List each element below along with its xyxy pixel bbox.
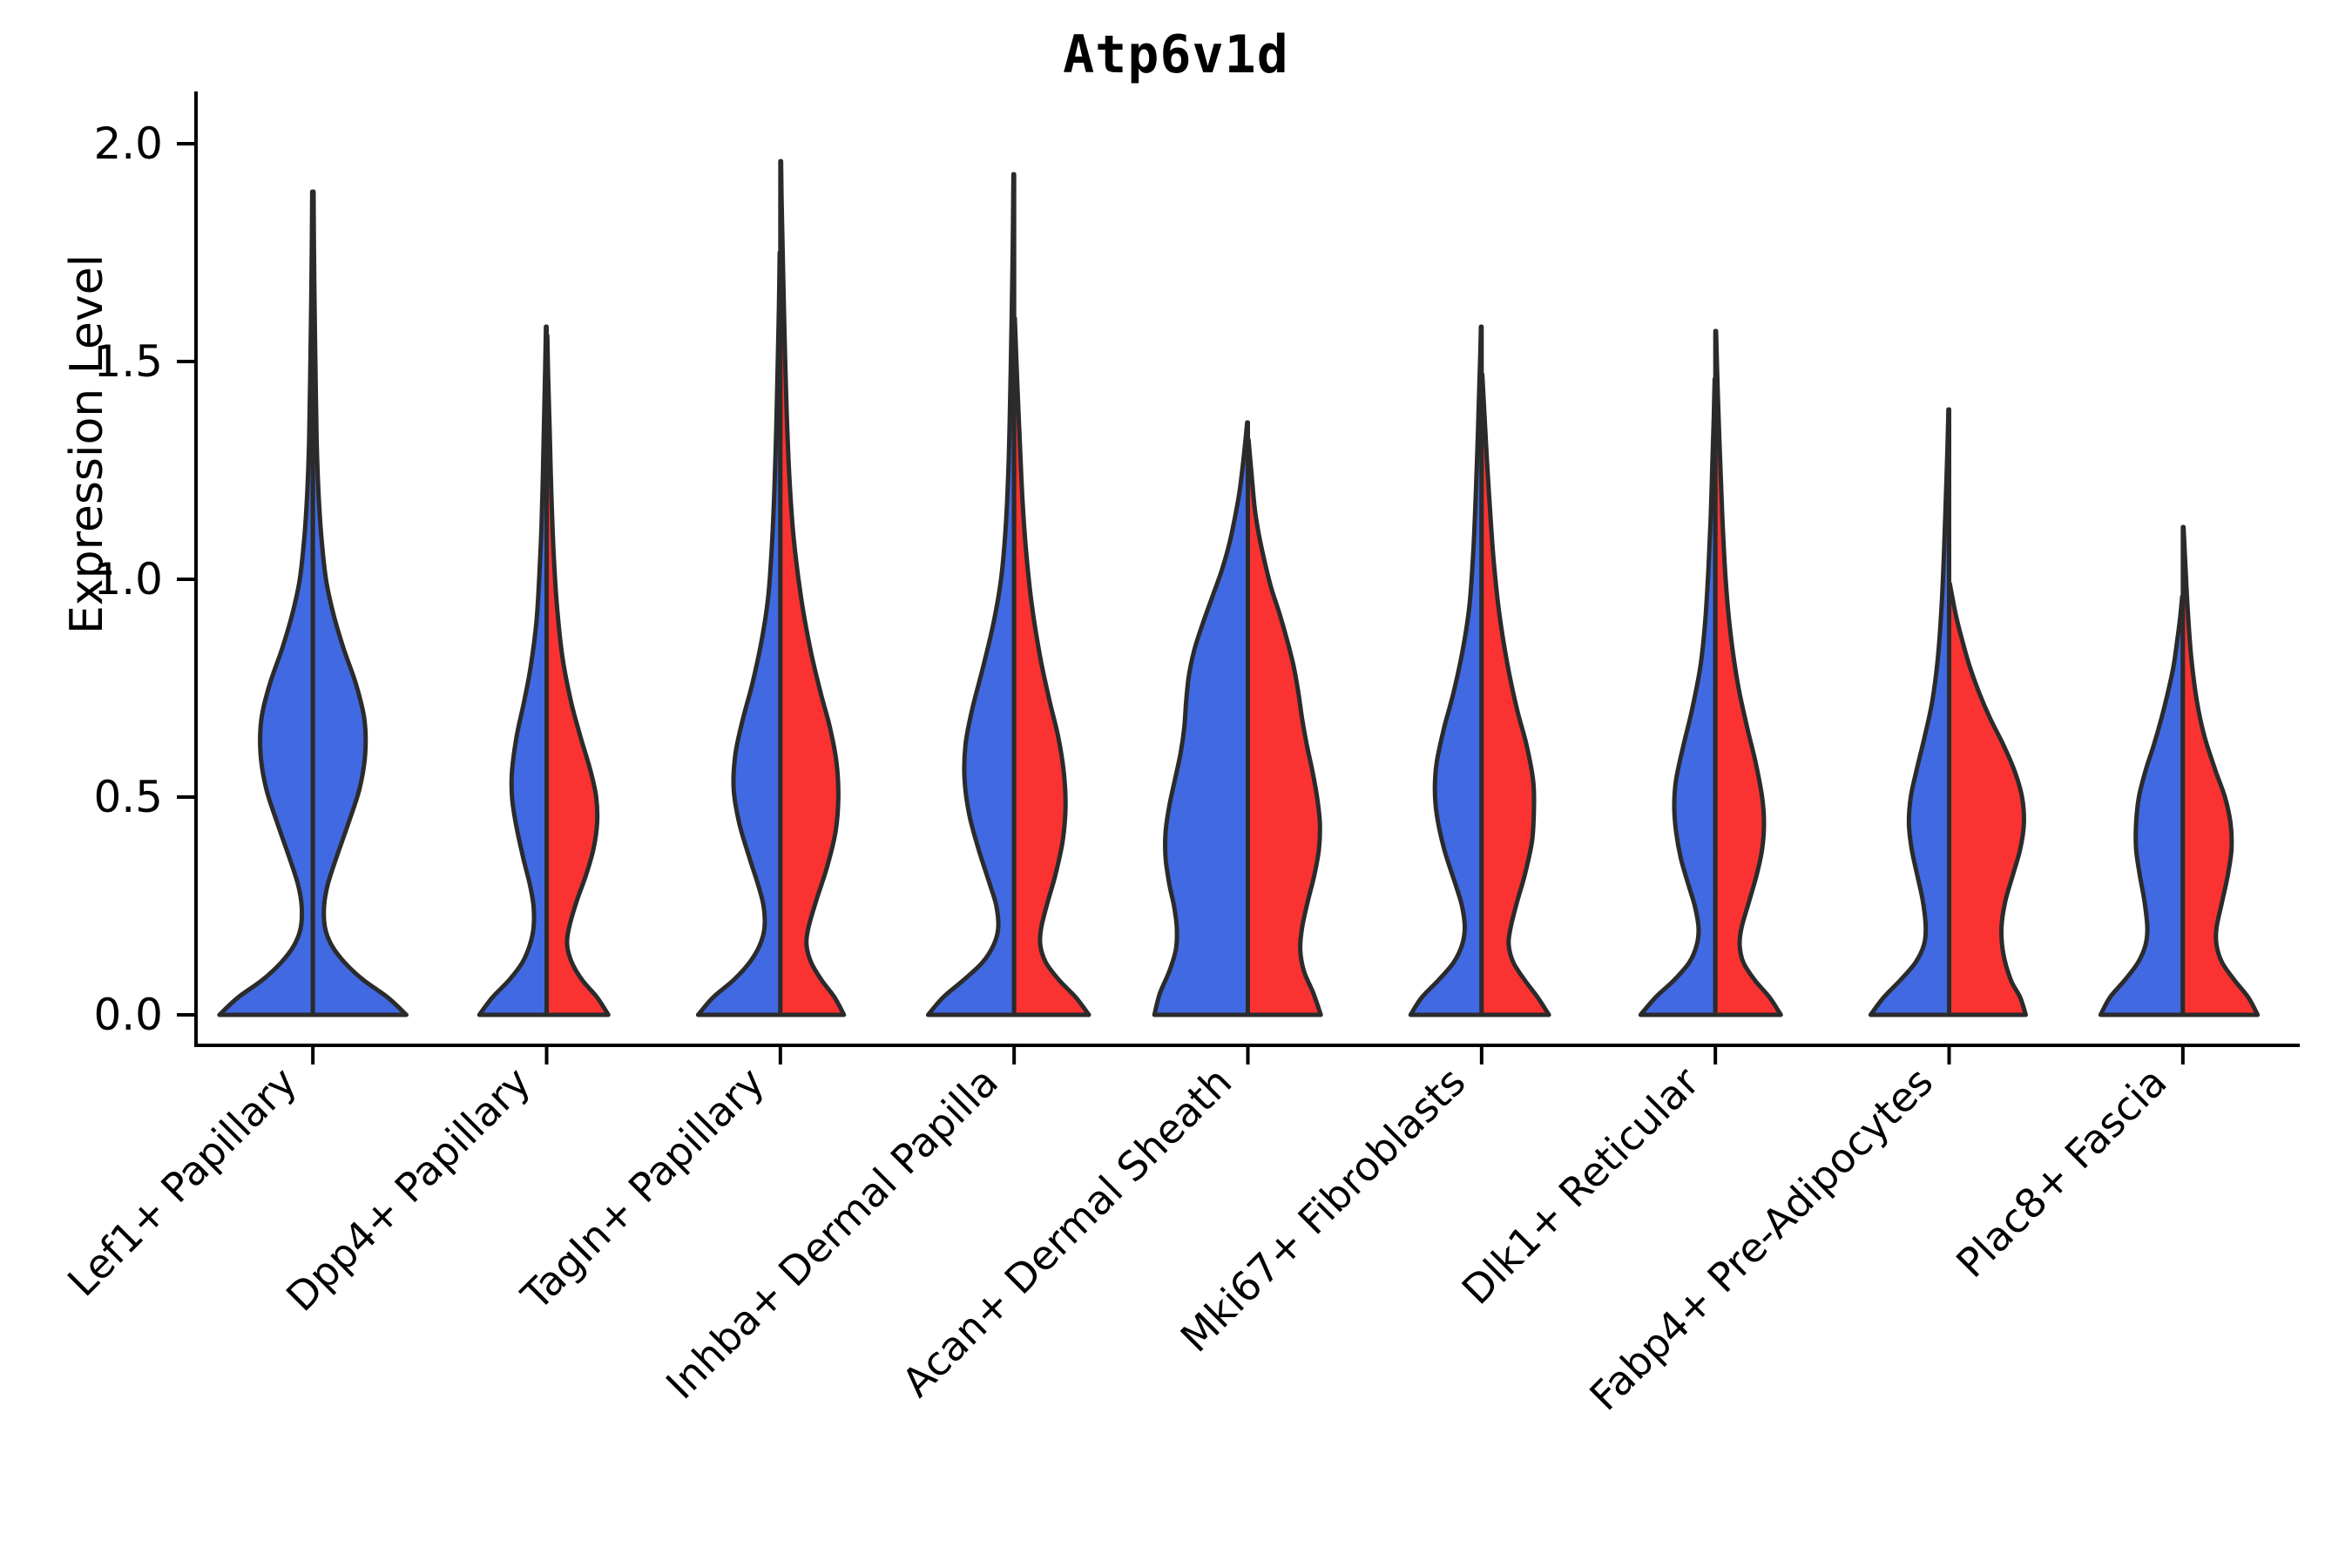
violin-group_b-6 bbox=[1715, 331, 1781, 1015]
chart-canvas: 0.00.51.01.52.0 Lef1+ PapillaryDpp4+ Pap… bbox=[0, 0, 2352, 1568]
y-tick-label: 0.0 bbox=[93, 990, 163, 1040]
y-tick-label: 1.0 bbox=[93, 554, 163, 605]
violin-plot-figure: Atp6v1d Expression Level 0.00.51.01.52.0… bbox=[0, 0, 2352, 1568]
violin-group_a-5 bbox=[1410, 327, 1482, 1015]
violin-group_a-2 bbox=[698, 253, 780, 1015]
x-tick-label-group: Lef1+ Papillary bbox=[58, 1058, 306, 1306]
violin-group_b-5 bbox=[1482, 375, 1549, 1015]
x-tick-label: Dlk1+ Reticular bbox=[1453, 1058, 1708, 1314]
x-tick-label: TagIn+ Papillary bbox=[511, 1058, 773, 1320]
x-tick-labels-layer: Lef1+ PapillaryDpp4+ PapillaryTagIn+ Pap… bbox=[58, 1058, 2176, 1420]
x-tick-label-group: TagIn+ Papillary bbox=[511, 1058, 773, 1320]
violin-group_a-0 bbox=[220, 192, 313, 1015]
x-tick-label-group: Dpp4+ Papillary bbox=[277, 1058, 539, 1321]
violin-group_a-8 bbox=[2100, 597, 2182, 1015]
violin-group_b-3 bbox=[1014, 318, 1089, 1015]
y-tick-label: 1.5 bbox=[93, 336, 163, 387]
violin-group_a-4 bbox=[1154, 422, 1247, 1015]
x-tick-label-group: Dlk1+ Reticular bbox=[1453, 1058, 1708, 1314]
violin-group_b-2 bbox=[781, 161, 844, 1015]
violin-group_a-7 bbox=[1870, 409, 1949, 1015]
violin-group_b-1 bbox=[547, 335, 609, 1015]
violin-group_a-0-mirror bbox=[313, 192, 406, 1015]
violin-group_a-1 bbox=[479, 327, 546, 1015]
x-tick-label: Lef1+ Papillary bbox=[58, 1058, 306, 1306]
violin-group_a-6 bbox=[1640, 379, 1715, 1015]
x-tick-label: Plac8+ Fascia bbox=[1947, 1058, 2175, 1287]
y-tick-label: 0.5 bbox=[93, 772, 163, 822]
y-tick-label: 2.0 bbox=[93, 118, 163, 169]
violin-group_b-8 bbox=[2183, 527, 2258, 1015]
x-tick-label-group: Plac8+ Fascia bbox=[1947, 1058, 2175, 1287]
violin-group_b-4 bbox=[1248, 440, 1321, 1015]
violin-group_b-7 bbox=[1950, 584, 2026, 1015]
violins-layer bbox=[220, 161, 2258, 1015]
violin-group_a-3 bbox=[928, 174, 1014, 1015]
x-tick-label: Dpp4+ Papillary bbox=[277, 1058, 539, 1321]
